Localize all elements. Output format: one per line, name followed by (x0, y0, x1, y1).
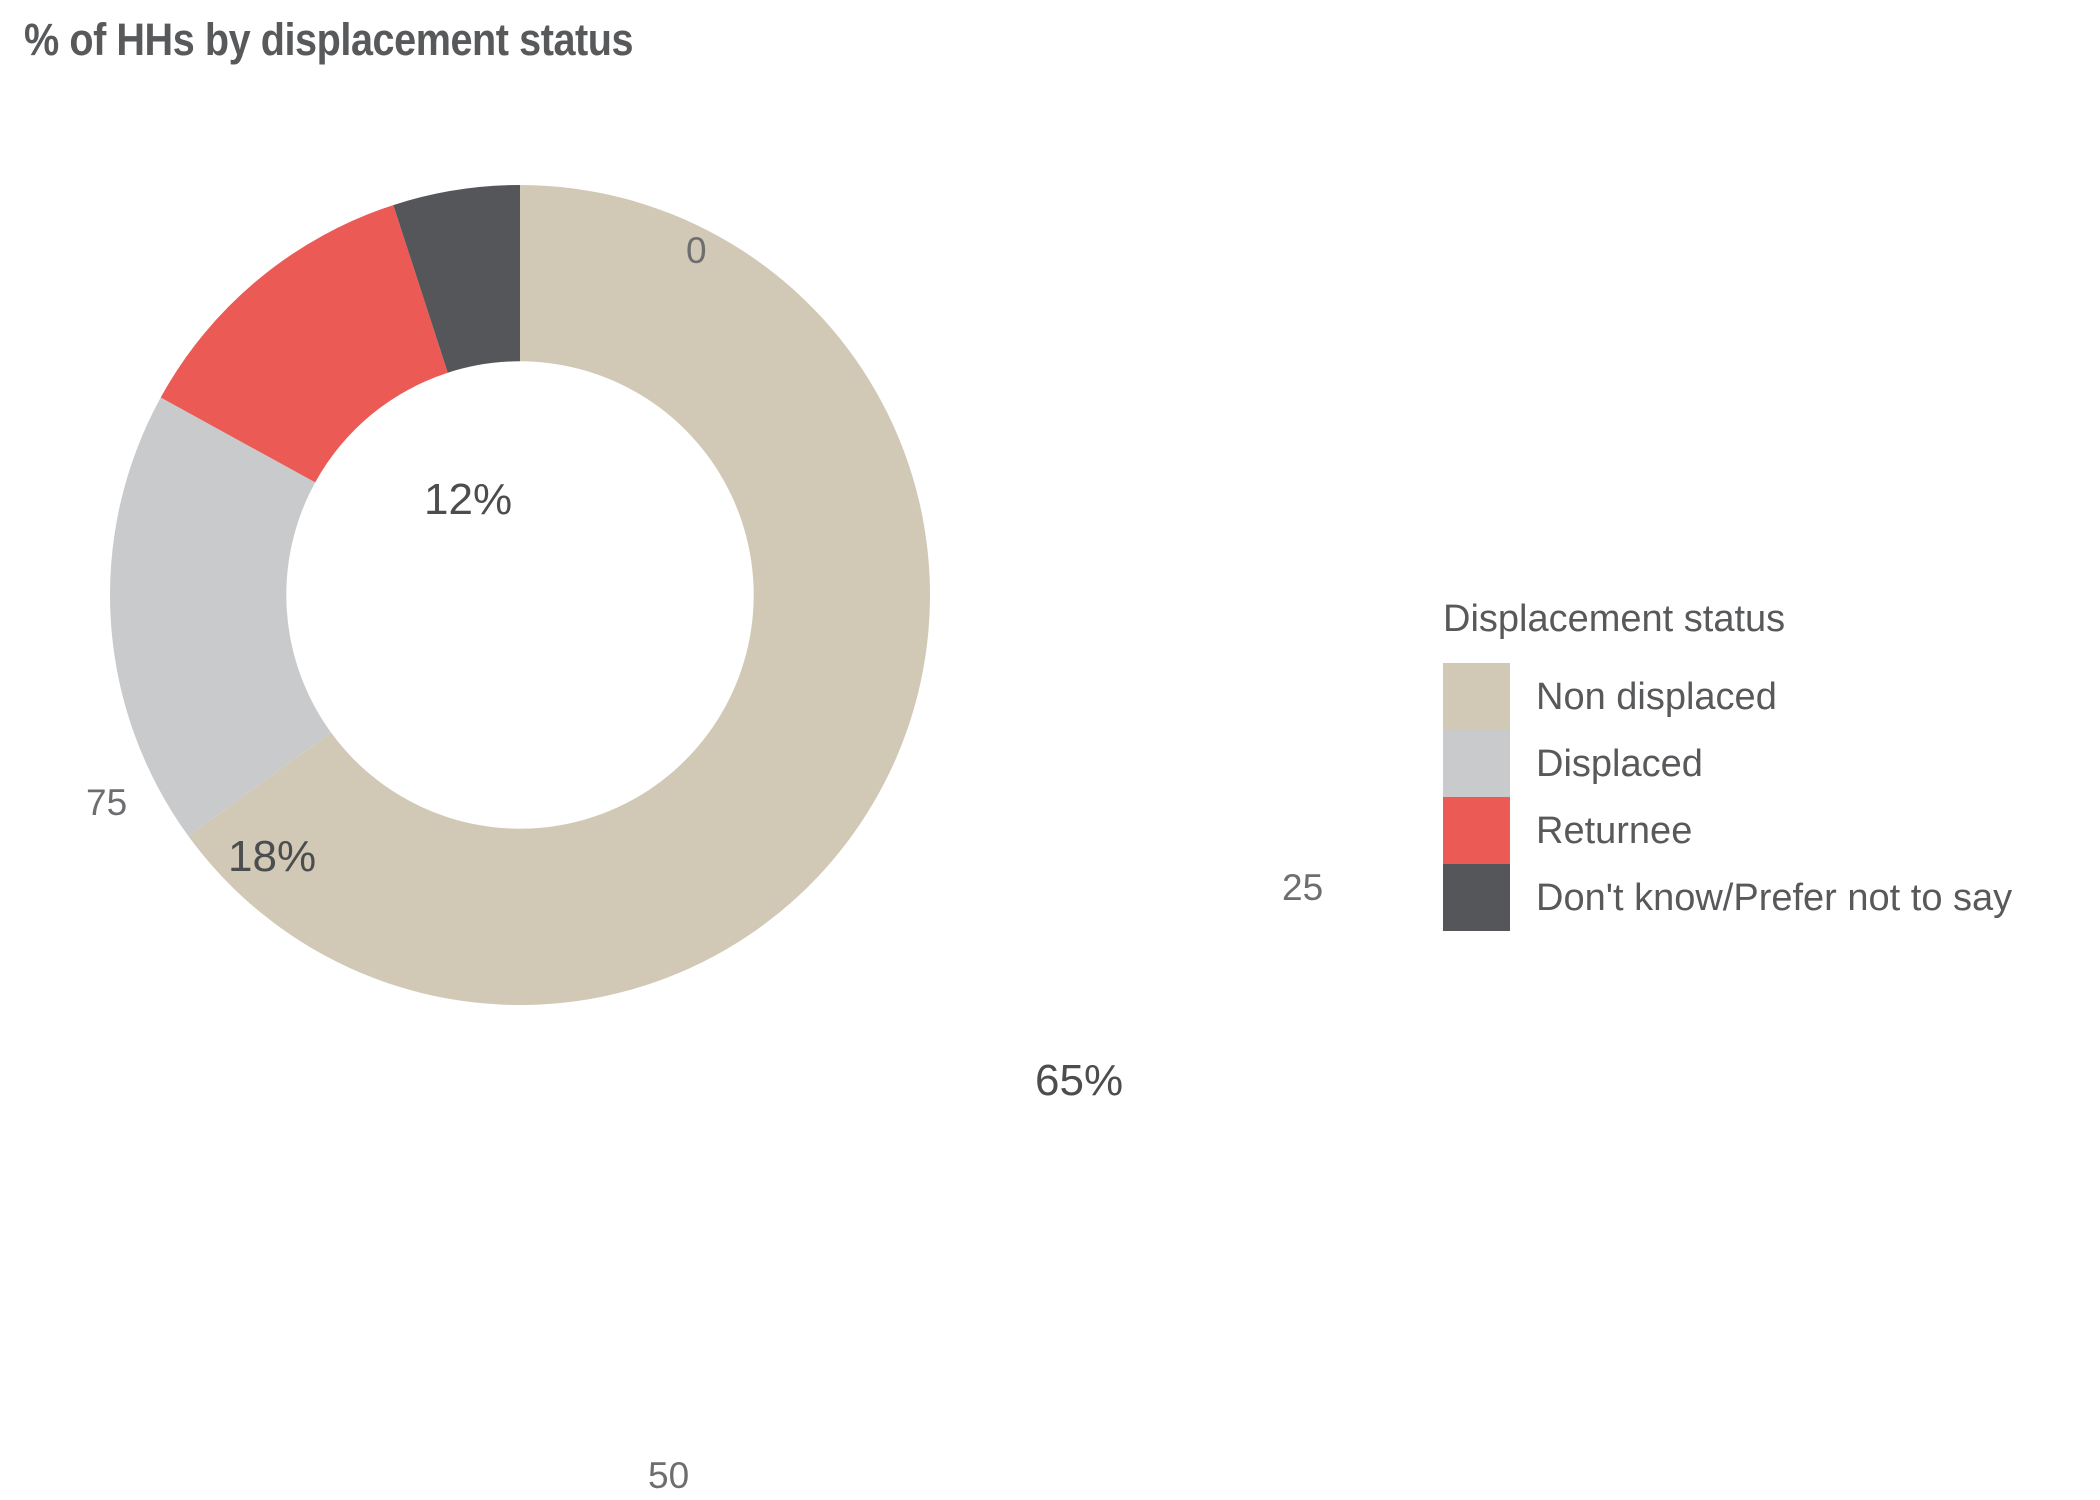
legend-item-label: Returnee (1536, 812, 1692, 850)
donut-chart-area: 0 25 50 75 65% 18% 12% (0, 90, 1420, 1490)
legend-swatch-icon (1443, 864, 1510, 931)
legend-item[interactable]: Returnee (1443, 797, 2073, 864)
slice-label-non-displaced: 65% (1035, 1056, 1123, 1106)
axis-tick-75: 75 (86, 782, 127, 824)
donut-chart-svg (0, 90, 1420, 1490)
slice-label-displaced: 18% (228, 832, 316, 882)
axis-tick-25: 25 (1282, 867, 1323, 909)
legend: Displacement status Non displacedDisplac… (1443, 598, 2073, 931)
legend-item-label: Displaced (1536, 745, 1703, 783)
legend-item-label: Non displaced (1536, 678, 1777, 716)
legend-swatch-icon (1443, 797, 1510, 864)
legend-rows: Non displacedDisplacedReturneeDon't know… (1443, 663, 2073, 931)
slice-label-returnee: 12% (424, 475, 512, 525)
legend-item[interactable]: Displaced (1443, 730, 2073, 797)
legend-item[interactable]: Don't know/Prefer not to say (1443, 864, 2073, 931)
donut-slices (110, 185, 930, 1005)
axis-tick-0: 0 (686, 230, 707, 272)
axis-tick-50: 50 (648, 1455, 689, 1497)
legend-item[interactable]: Non displaced (1443, 663, 2073, 730)
legend-item-label: Don't know/Prefer not to say (1536, 879, 2012, 917)
chart-page: % of HHs by displacement status 0 25 50 … (0, 0, 2100, 1500)
legend-swatch-icon (1443, 730, 1510, 797)
legend-swatch-icon (1443, 663, 1510, 730)
page-title: % of HHs by displacement status (24, 14, 633, 66)
legend-title: Displacement status (1443, 598, 2073, 641)
